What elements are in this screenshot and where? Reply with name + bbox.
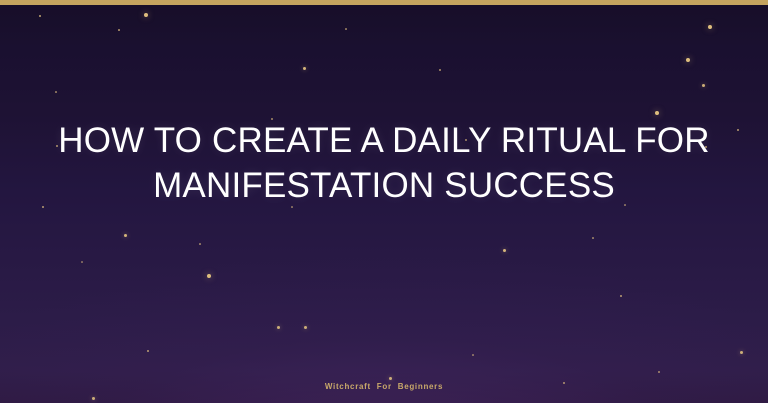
star-dot: [740, 351, 743, 354]
star-dot: [55, 91, 57, 93]
star-dot: [147, 350, 149, 352]
star-dot: [199, 243, 201, 245]
star-dot: [304, 326, 307, 329]
star-dot: [144, 13, 148, 17]
star-dot: [503, 249, 506, 252]
star-dot: [39, 15, 41, 17]
star-dot: [303, 67, 306, 70]
star-dot: [702, 84, 705, 87]
star-dot: [655, 111, 659, 115]
brand-label: Witchcraft For Beginners: [325, 382, 443, 391]
star-dot: [345, 28, 347, 30]
star-dot: [686, 58, 690, 62]
star-dot: [658, 371, 660, 373]
star-dot: [81, 261, 83, 263]
star-dot: [708, 25, 712, 29]
star-dot: [439, 69, 441, 71]
gold-accent-bar: [0, 0, 768, 5]
star-dot: [592, 237, 594, 239]
star-dot: [620, 295, 622, 297]
star-dot: [207, 274, 211, 278]
star-dot: [472, 354, 474, 356]
slide-footer: Witchcraft For Beginners: [0, 376, 768, 394]
title-line-1: HOW TO CREATE A DAILY RITUAL FOR: [24, 118, 744, 163]
presentation-slide: HOW TO CREATE A DAILY RITUAL FOR MANIFES…: [0, 0, 768, 403]
star-dot: [277, 326, 280, 329]
star-dot: [118, 29, 120, 31]
star-dot: [92, 397, 95, 400]
title-line-2: MANIFESTATION SUCCESS: [24, 163, 744, 208]
page-title: HOW TO CREATE A DAILY RITUAL FOR MANIFES…: [0, 118, 768, 208]
star-dot: [124, 234, 127, 237]
